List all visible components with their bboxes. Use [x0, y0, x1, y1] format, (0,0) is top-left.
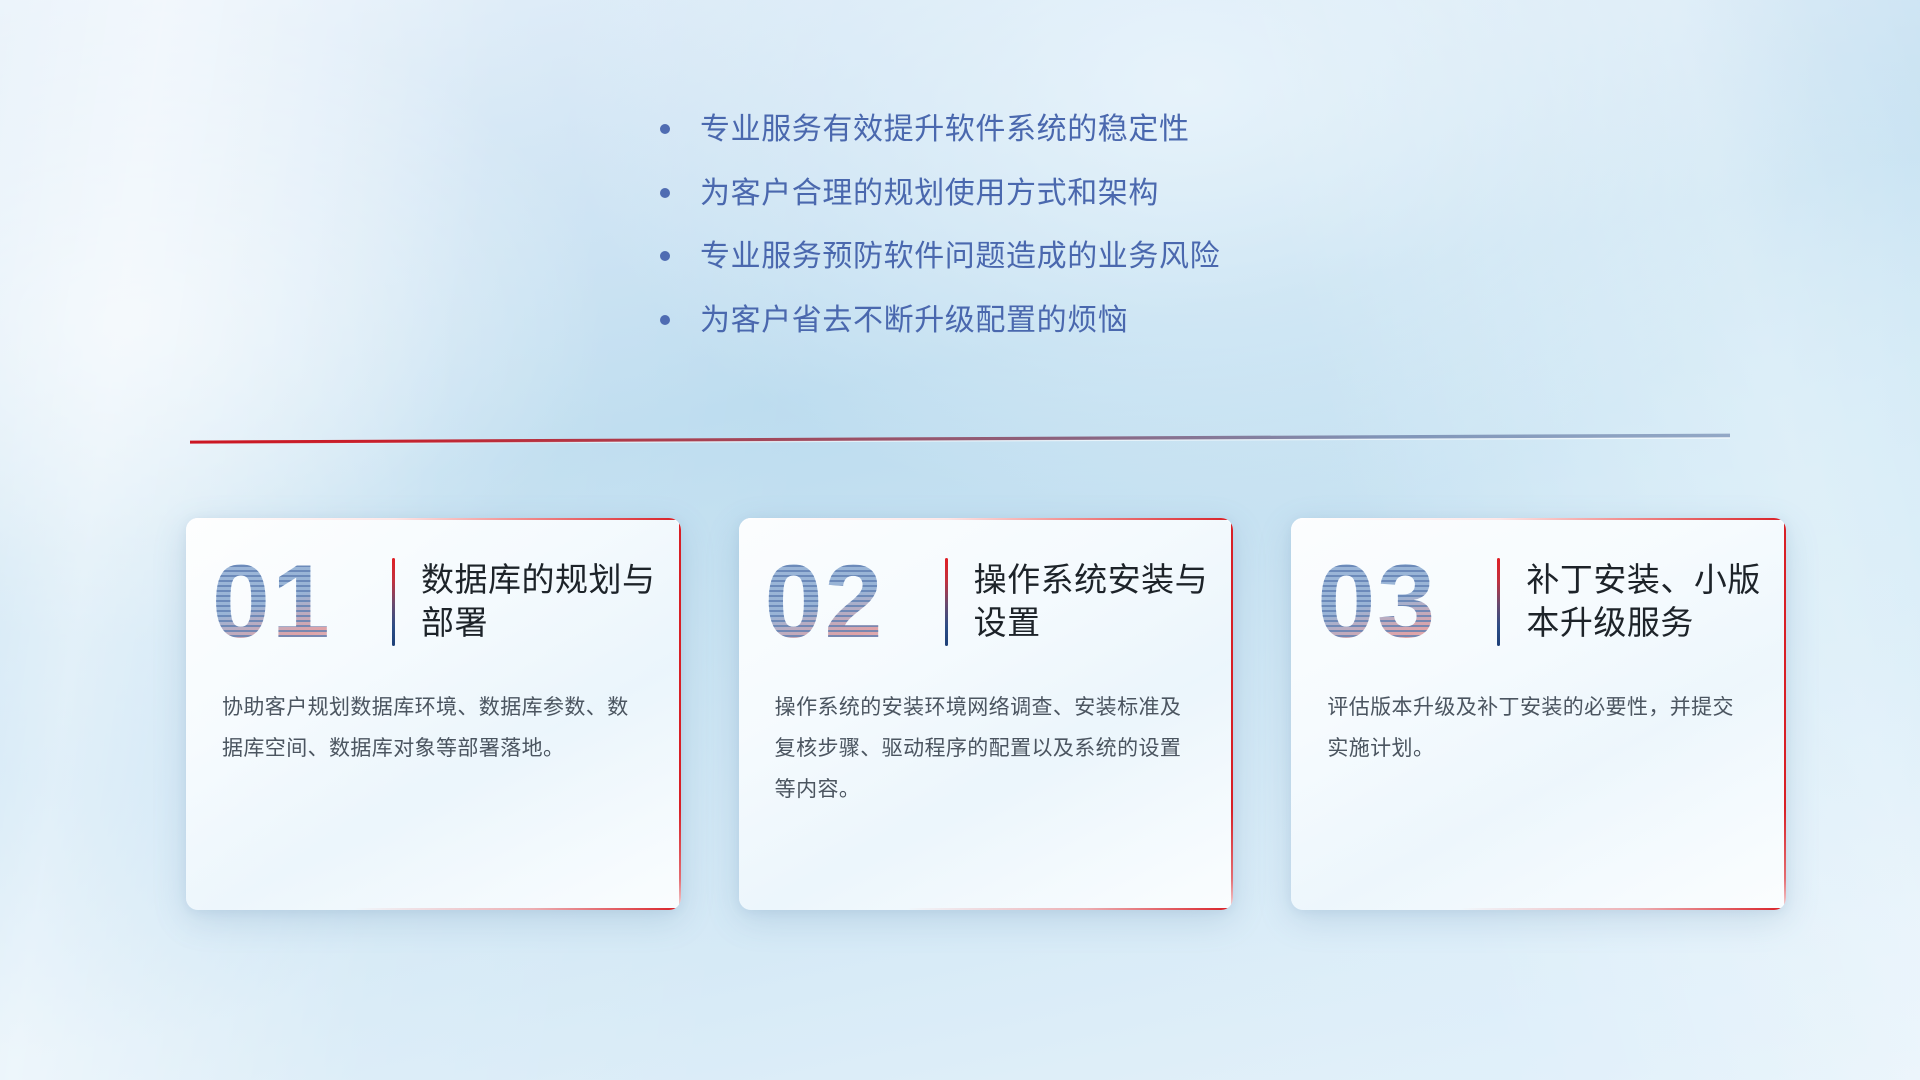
bullet-dot-icon [660, 315, 670, 325]
bullet-dot-icon [660, 251, 670, 261]
list-item: 为客户合理的规划使用方式和架构 [660, 176, 1420, 213]
card-header: 02 操作系统安装与设置 [739, 518, 1234, 686]
card-description: 评估版本升级及补丁安装的必要性，并提交实施计划。 [1291, 686, 1786, 770]
card-number-watermark: 02 [761, 550, 941, 654]
card-edge-bottom [354, 908, 680, 910]
list-item: 专业服务预防软件问题造成的业务风险 [660, 239, 1420, 276]
card-description: 协助客户规划数据库环境、数据库参数、数据库空间、数据库对象等部署落地。 [186, 686, 681, 770]
benefits-bullet-list: 专业服务有效提升软件系统的稳定性 为客户合理的规划使用方式和架构 专业服务预防软… [660, 112, 1420, 366]
card-number-watermark: 01 [208, 550, 388, 654]
bullet-dot-icon [660, 124, 670, 134]
card-title: 补丁安装、小版本升级服务 [1526, 559, 1786, 645]
card-edge-bottom [1460, 908, 1786, 910]
bullet-text: 为客户合理的规划使用方式和架构 [700, 176, 1159, 213]
card-title: 操作系统安装与设置 [974, 559, 1234, 645]
bullet-dot-icon [660, 188, 670, 198]
card-edge-bottom [907, 908, 1233, 910]
service-card[interactable]: 01 数据库的规划与部署 协助客户规划数据库环境、数据库参数、数据库空间、数据库… [186, 518, 681, 910]
card-title: 数据库的规划与部署 [421, 559, 681, 645]
list-item: 专业服务有效提升软件系统的稳定性 [660, 112, 1420, 149]
card-header: 01 数据库的规划与部署 [186, 518, 681, 686]
slide-canvas: 专业服务有效提升软件系统的稳定性 为客户合理的规划使用方式和架构 专业服务预防软… [0, 0, 1920, 1080]
service-card-list: 01 数据库的规划与部署 协助客户规划数据库环境、数据库参数、数据库空间、数据库… [186, 518, 1786, 918]
service-card[interactable]: 03 补丁安装、小版本升级服务 评估版本升级及补丁安装的必要性，并提交实施计划。 [1291, 518, 1786, 910]
bullet-text: 为客户省去不断升级配置的烦恼 [700, 303, 1128, 340]
card-divider-bar [945, 558, 948, 646]
bullet-text: 专业服务预防软件问题造成的业务风险 [700, 239, 1220, 276]
card-divider-bar [392, 558, 395, 646]
card-divider-bar [1497, 558, 1500, 646]
service-card[interactable]: 02 操作系统安装与设置 操作系统的安装环境网络调查、安装标准及复核步骤、驱动程… [739, 518, 1234, 910]
card-header: 03 补丁安装、小版本升级服务 [1291, 518, 1786, 686]
bullet-text: 专业服务有效提升软件系统的稳定性 [700, 112, 1190, 149]
accent-divider-line [190, 433, 1730, 445]
card-number-watermark: 03 [1313, 550, 1493, 654]
card-description: 操作系统的安装环境网络调查、安装标准及复核步骤、驱动程序的配置以及系统的设置等内… [739, 686, 1234, 811]
list-item: 为客户省去不断升级配置的烦恼 [660, 303, 1420, 340]
